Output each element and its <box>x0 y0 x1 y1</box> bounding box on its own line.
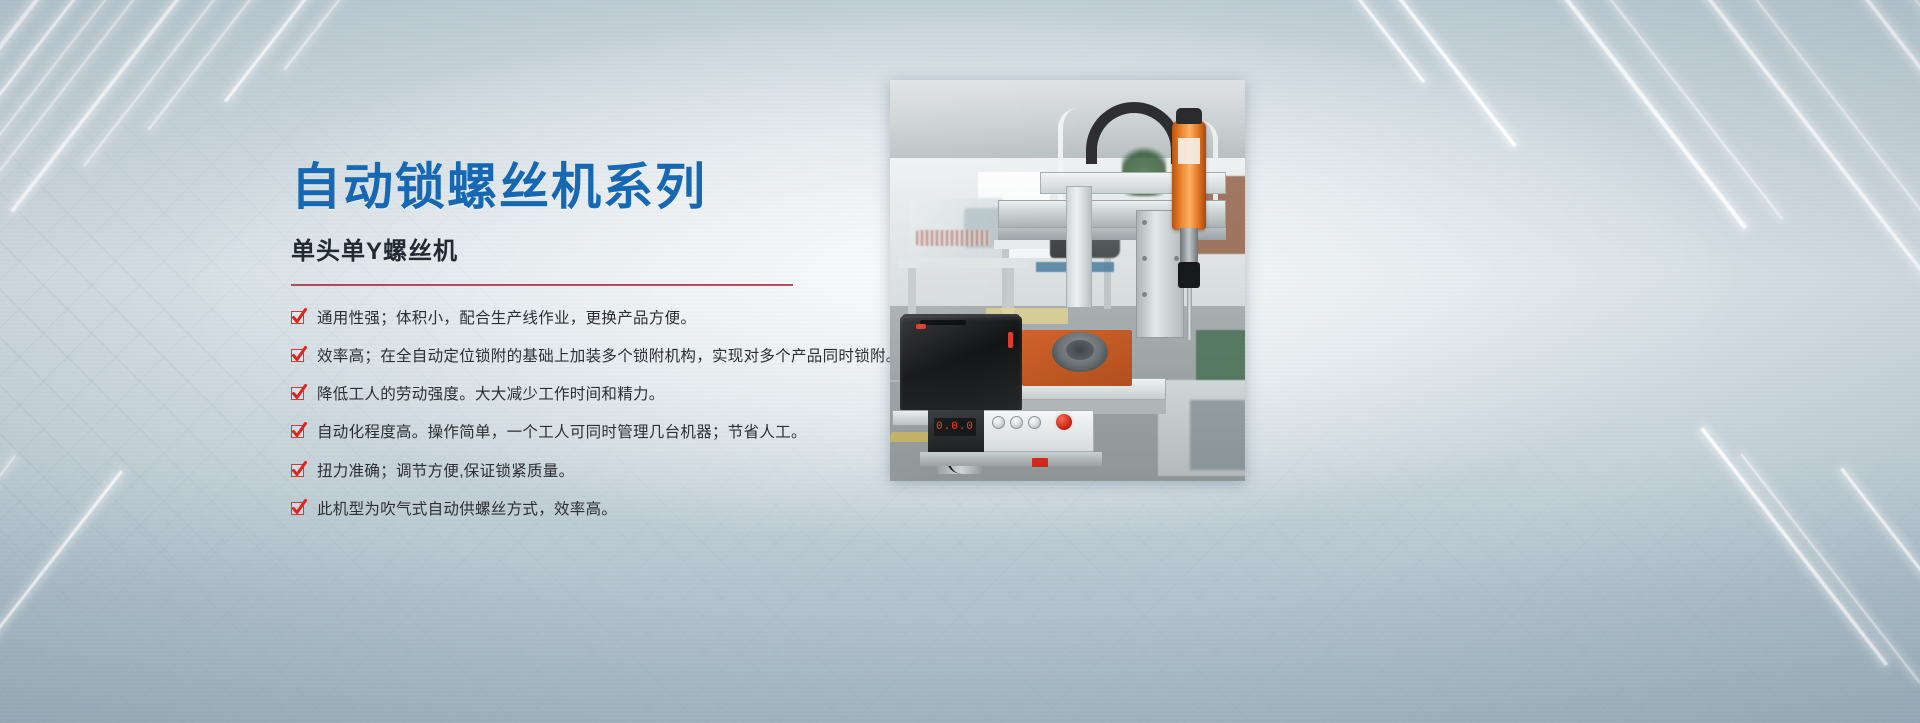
machine-knob <box>992 416 1005 429</box>
machine-bolt <box>1142 256 1147 261</box>
checkbox-checked-icon <box>291 464 304 477</box>
title-divider <box>291 284 793 286</box>
machine-screwdriver-chuck <box>1178 262 1200 288</box>
machine-feeder-indicator <box>1008 332 1013 348</box>
machine-gantry-column <box>1066 186 1092 308</box>
machine-knob <box>1028 416 1041 429</box>
page-title: 自动锁螺丝机系列 <box>291 160 891 215</box>
machine-screwdriver-label <box>1178 138 1200 164</box>
machine-panel-base <box>920 452 1102 466</box>
checkbox-checked-icon <box>291 387 304 400</box>
checkbox-checked-icon <box>291 349 304 362</box>
list-item: 通用性强；体积小，配合生产线作业，更换产品方便。 <box>291 308 891 329</box>
banner-stage: 自动锁螺丝机系列 单头单Y螺丝机 通用性强；体积小，配合生产线作业，更换产品方便… <box>0 0 1920 723</box>
feature-text: 自动化程度高。操作简单，一个工人可同时管理几台机器；节省人工。 <box>317 422 807 443</box>
machine-bolt <box>1142 220 1147 225</box>
machine-emergency-stop-button <box>1054 412 1074 432</box>
list-item: 扭力准确；调节方便,保证锁紧质量。 <box>291 461 891 482</box>
feature-list: 通用性强；体积小，配合生产线作业，更换产品方便。 效率高；在全自动定位锁附的基础… <box>291 308 891 520</box>
machine-feeder-slot <box>920 320 966 325</box>
machine-electric-screwdriver <box>1172 120 1206 230</box>
machine-screwdriver-bit <box>1187 288 1192 340</box>
machine-knob <box>1010 416 1023 429</box>
machine-bolt <box>1174 256 1179 261</box>
feature-text: 此机型为吹气式自动供螺丝方式，效率高。 <box>317 499 617 520</box>
machine-screwdriver-neck <box>1180 228 1198 262</box>
feature-text: 通用性强；体积小，配合生产线作业，更换产品方便。 <box>317 308 696 329</box>
list-item: 此机型为吹气式自动供螺丝方式，效率高。 <box>291 499 891 520</box>
photo-workbench <box>898 258 1028 268</box>
machine-workpiece-center <box>1066 340 1094 360</box>
machine-red-switch <box>1032 458 1048 467</box>
machine-display-value: 0.0.0 <box>936 420 974 434</box>
photo-workbench-leg <box>1104 249 1111 309</box>
machine-screwdriver-cap <box>1176 108 1202 124</box>
checkbox-checked-icon <box>291 425 304 438</box>
feature-text: 扭力准确；调节方便,保证锁紧质量。 <box>317 461 574 482</box>
photo-right-panel-inner <box>1190 400 1245 470</box>
feature-text: 效率高；在全自动定位锁附的基础上加装多个锁附机构，实现对多个产品同时锁附。 <box>317 346 902 367</box>
checkbox-checked-icon <box>291 502 304 515</box>
machine-bolt <box>1142 292 1147 297</box>
photo-background-wiring <box>916 230 990 246</box>
machine-feeder-indicator <box>916 324 926 329</box>
page-subtitle: 单头单Y螺丝机 <box>291 231 891 266</box>
banner-content: 自动锁螺丝机系列 单头单Y螺丝机 通用性强；体积小，配合生产线作业，更换产品方便… <box>291 160 891 537</box>
checkbox-checked-icon <box>291 311 304 324</box>
feature-text: 降低工人的劳动强度。大大减少工作时间和精力。 <box>317 384 665 405</box>
list-item: 效率高；在全自动定位锁附的基础上加装多个锁附机构，实现对多个产品同时锁附。 <box>291 346 891 367</box>
list-item: 降低工人的劳动强度。大大减少工作时间和精力。 <box>291 384 891 405</box>
machine-screw-feeder <box>900 316 1022 412</box>
product-photo: 0.0.0 <box>890 80 1245 481</box>
list-item: 自动化程度高。操作简单，一个工人可同时管理几台机器；节省人工。 <box>291 422 891 443</box>
